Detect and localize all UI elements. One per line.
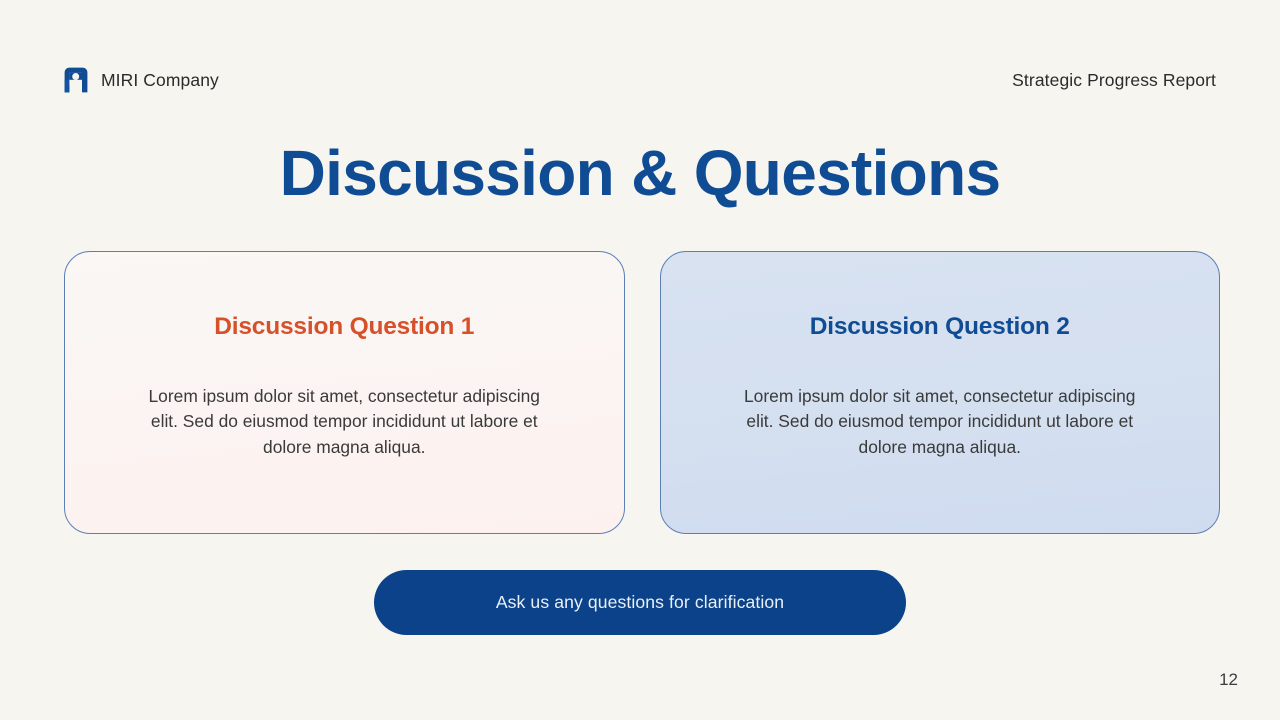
report-label: Strategic Progress Report (1012, 70, 1216, 91)
slide-header: MIRI Company Strategic Progress Report (64, 62, 1216, 98)
miri-logo-icon (64, 67, 88, 93)
page-title: Discussion & Questions (0, 139, 1280, 208)
discussion-card-2-title: Discussion Question 2 (810, 314, 1070, 341)
discussion-card-1: Discussion Question 1 Lorem ipsum dolor … (64, 251, 625, 534)
discussion-cards-row: Discussion Question 1 Lorem ipsum dolor … (64, 251, 1220, 534)
page-number: 12 (1219, 670, 1238, 690)
discussion-card-2-body: Lorem ipsum dolor sit amet, consectetur … (730, 384, 1150, 460)
discussion-card-1-body: Lorem ipsum dolor sit amet, consectetur … (134, 384, 554, 460)
discussion-card-2: Discussion Question 2 Lorem ipsum dolor … (660, 251, 1221, 534)
brand: MIRI Company (64, 67, 219, 93)
brand-name: MIRI Company (101, 70, 219, 91)
ask-questions-button[interactable]: Ask us any questions for clarification (374, 570, 906, 635)
discussion-card-1-title: Discussion Question 1 (214, 314, 474, 341)
